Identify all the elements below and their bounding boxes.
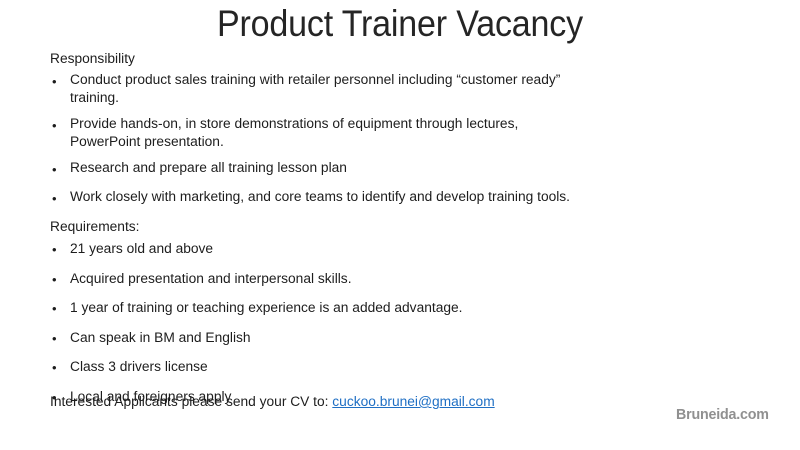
list-item: • Work closely with marketing, and core …	[50, 189, 750, 209]
slide-canvas: Product Trainer Vacancy Responsibility •…	[0, 0, 800, 450]
responsibility-heading: Responsibility	[50, 49, 729, 70]
list-item-text: Can speak in BM and English	[70, 329, 730, 348]
bullet-icon: •	[50, 329, 70, 349]
list-item: • Research and prepare all training less…	[50, 160, 750, 180]
requirements-heading: Requirements:	[50, 217, 729, 238]
watermark: Bruneida.com	[676, 405, 769, 424]
list-item-text: Acquired presentation and interpersonal …	[70, 270, 730, 289]
contact-prefix-text: Interested Applicants please send your C…	[50, 394, 332, 410]
list-item-line: Conduct product sales training with reta…	[70, 72, 560, 88]
bullet-icon: •	[50, 299, 70, 319]
list-item-text: 1 year of training or teaching experienc…	[70, 299, 730, 318]
bullet-icon: •	[50, 160, 70, 180]
list-item: • Class 3 drivers license	[50, 358, 750, 378]
list-item-text: Conduct product sales training with reta…	[70, 72, 730, 107]
bullet-icon: •	[50, 189, 70, 209]
list-item-line-wrap: training.	[70, 90, 730, 108]
list-item-text: 21 years old and above	[70, 240, 730, 259]
list-item: • Conduct product sales training with re…	[50, 72, 750, 107]
email-link[interactable]: cuckoo.brunei@gmail.com	[332, 394, 494, 410]
bullet-icon: •	[50, 240, 70, 260]
contact-line: Interested Applicants please send your C…	[50, 393, 495, 412]
list-item-line: Provide hands-on, in store demonstration…	[70, 116, 518, 132]
list-item-text: Class 3 drivers license	[70, 358, 730, 377]
slide-body: Responsibility • Conduct product sales t…	[50, 49, 750, 417]
list-item-text: Provide hands-on, in store demonstration…	[70, 116, 730, 151]
list-item-text: Work closely with marketing, and core te…	[70, 189, 730, 207]
requirements-list: • 21 years old and above • Acquired pres…	[50, 240, 750, 407]
list-item-text: Research and prepare all training lesson…	[70, 160, 730, 178]
list-item: • Provide hands-on, in store demonstrati…	[50, 116, 750, 151]
list-item: • 21 years old and above	[50, 240, 750, 260]
list-item: • Acquired presentation and interpersona…	[50, 270, 750, 290]
bullet-icon: •	[50, 72, 70, 92]
bullet-icon: •	[50, 358, 70, 378]
list-item: • Can speak in BM and English	[50, 329, 750, 349]
bullet-icon: •	[50, 270, 70, 290]
responsibility-list: • Conduct product sales training with re…	[50, 72, 750, 208]
list-item-line-wrap: PowerPoint presentation.	[70, 134, 730, 152]
page-title: Product Trainer Vacancy	[32, 2, 768, 45]
list-item: • 1 year of training or teaching experie…	[50, 299, 750, 319]
bullet-icon: •	[50, 116, 70, 136]
